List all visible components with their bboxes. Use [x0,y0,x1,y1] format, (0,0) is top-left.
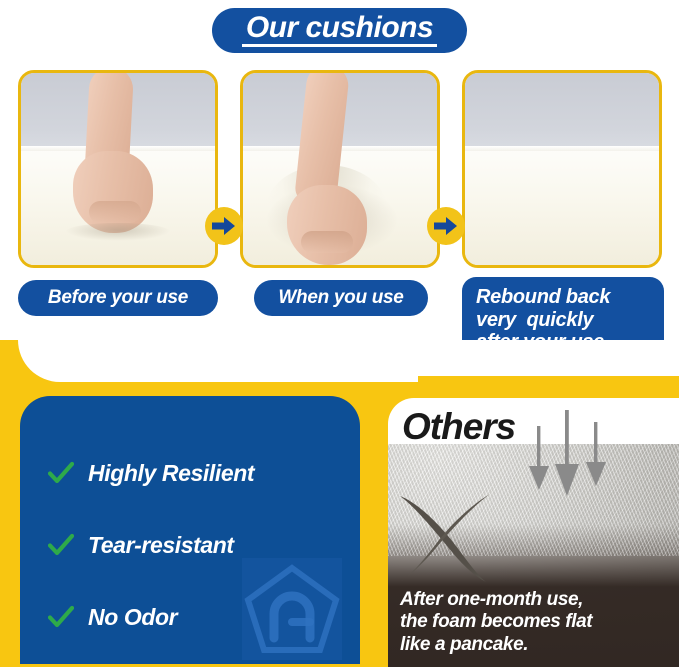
photo-background-wall [465,73,659,154]
pentagon-house-a-logo-icon [238,552,346,664]
caption-line-1: Rebound back [476,286,610,309]
benefit-label: No Odor [88,604,177,631]
demo-panel-before [18,70,218,268]
page-title: Our cushions [246,12,433,44]
others-title: Others [402,406,515,448]
check-icon [48,604,74,630]
header: Our cushions [0,8,679,53]
background-notch-left [18,340,418,382]
demo-panel-row [0,70,679,270]
photo-foam-edge [465,146,659,151]
caption-text: When you use [278,287,403,309]
lower-section-background: Highly Resilient Tear-resistant No Odor [0,340,679,667]
check-icon [48,460,74,486]
caption-line-2: very quickly [476,309,593,332]
others-caption-line-2: the foam becomes flat [400,611,672,634]
arrow-down-icon [520,404,610,496]
page-title-pill: Our cushions [212,8,467,53]
background-notch-right [418,340,679,376]
arrow-right-icon [205,207,243,245]
title-underline [242,44,437,47]
photo-contact-shadow [65,223,171,241]
photo-foam-slab [465,146,659,265]
caption-before-your-use: Before your use [18,280,218,316]
caption-text: Before your use [48,287,188,309]
x-cross-icon [394,490,502,588]
photo-knuckles [301,231,353,253]
others-panel: Others [388,398,679,667]
photo-fist [287,185,367,265]
others-caption: After one-month use, the foam becomes fl… [400,589,672,657]
others-caption-line-3: like a pancake. [400,634,672,657]
benefit-label: Tear-resistant [88,532,234,559]
benefits-panel: Highly Resilient Tear-resistant No Odor [20,396,360,664]
check-icon [48,532,74,558]
arrow-right-icon [427,207,465,245]
others-caption-line-1: After one-month use, [400,589,672,612]
benefit-label: Highly Resilient [88,460,254,487]
demo-panel-after [462,70,662,268]
demo-panel-during [240,70,440,268]
caption-when-you-use: When you use [254,280,428,316]
photo-knuckles [89,201,141,223]
list-item: Highly Resilient [48,446,348,500]
